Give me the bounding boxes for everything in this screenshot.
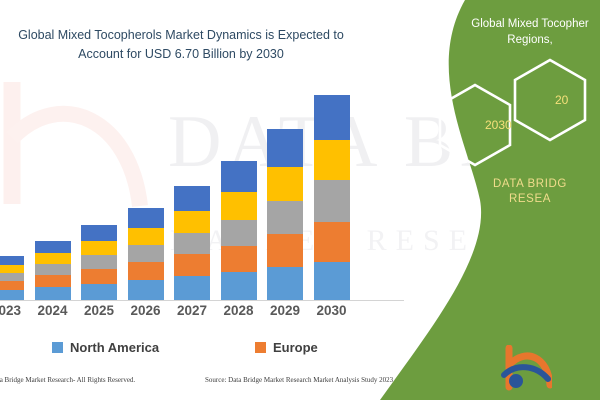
bar-2026[interactable] xyxy=(128,208,164,300)
bar-segment-2028-North America xyxy=(221,272,257,300)
bar-segment-2025-Europe xyxy=(81,269,117,284)
bar-segment-2027-Europe xyxy=(174,254,210,276)
bar-segment-2029-series-3 xyxy=(267,201,303,234)
data-bridge-logo-icon xyxy=(500,345,552,393)
infographic-canvas: DATA BRI MARKET RESEARCH Global Mixed To… xyxy=(0,0,600,400)
bar-segment-2024-series-4 xyxy=(35,253,71,264)
hexagon-2031-icon xyxy=(515,60,585,140)
legend-swatch-icon xyxy=(255,342,266,353)
bar-segment-2028-series-4 xyxy=(221,192,257,220)
bar-segment-2026-series-4 xyxy=(128,228,164,245)
panel-title-line1: Global Mixed Tocopher xyxy=(410,16,600,32)
x-tick-2027: 2027 xyxy=(169,303,215,318)
bar-segment-2027-series-4 xyxy=(174,211,210,233)
brand-line-1: DATA BRIDG xyxy=(420,177,600,192)
x-tick-2026: 2026 xyxy=(123,303,169,318)
bar-2027[interactable] xyxy=(174,186,210,300)
x-tick-2030: 2030 xyxy=(309,303,355,318)
x-tick-2024: 2024 xyxy=(30,303,76,318)
bar-segment-2030-series-5 xyxy=(314,95,350,140)
hexagon-label-2031: 20 xyxy=(555,93,568,107)
bar-2029[interactable] xyxy=(267,129,303,300)
brand-name: DATA BRIDG RESEA xyxy=(420,177,600,207)
bar-segment-2030-series-4 xyxy=(314,140,350,180)
bar-segment-2025-North America xyxy=(81,284,117,300)
legend-swatch-icon xyxy=(52,342,63,353)
bar-segment-2023-Europe xyxy=(0,281,24,290)
bar-segment-2023-series-4 xyxy=(0,265,24,273)
footer-source: Source: Data Bridge Market Research Mark… xyxy=(205,376,393,384)
bar-segment-2030-series-3 xyxy=(314,180,350,222)
bar-2024[interactable] xyxy=(35,241,71,300)
bar-segment-2030-Europe xyxy=(314,222,350,262)
footer: ected ® Data Bridge Market Research- All… xyxy=(0,376,470,392)
bar-segment-2028-Europe xyxy=(221,246,257,272)
bar-segment-2024-series-5 xyxy=(35,241,71,253)
legend-item-europe[interactable]: Europe xyxy=(255,340,318,355)
bar-segment-2026-series-5 xyxy=(128,208,164,228)
bar-segment-2025-series-5 xyxy=(81,225,117,241)
bar-segment-2027-series-5 xyxy=(174,186,210,211)
hexagon-label-2030: 2030 xyxy=(485,118,512,132)
x-tick-2028: 2028 xyxy=(216,303,262,318)
panel-title: Global Mixed Tocopher Regions, xyxy=(410,16,600,48)
x-tick-2025: 2025 xyxy=(76,303,122,318)
x-tick-2023: 2023 xyxy=(0,303,29,318)
bar-segment-2024-North America xyxy=(35,287,71,300)
bar-segment-2028-series-3 xyxy=(221,220,257,246)
bar-segment-2029-series-5 xyxy=(267,129,303,167)
bar-segment-2023-North America xyxy=(0,290,24,300)
bar-segment-2025-series-3 xyxy=(81,255,117,269)
bar-2030[interactable] xyxy=(314,95,350,300)
bar-segment-2023-series-3 xyxy=(0,273,24,281)
stacked-bar-chart: 20232024202520262027202820292030 xyxy=(0,88,420,310)
bar-segment-2029-Europe xyxy=(267,234,303,267)
bar-segment-2027-series-3 xyxy=(174,233,210,254)
x-axis-line xyxy=(0,300,404,301)
bar-segment-2025-series-4 xyxy=(81,241,117,255)
bar-segment-2024-Europe xyxy=(35,275,71,287)
legend-label: North America xyxy=(70,340,159,355)
x-tick-2029: 2029 xyxy=(262,303,308,318)
bar-segment-2027-North America xyxy=(174,276,210,300)
bar-segment-2026-North America xyxy=(128,280,164,300)
panel-title-line2: Regions, xyxy=(410,32,600,48)
bar-segment-2026-Europe xyxy=(128,262,164,280)
legend-label: Europe xyxy=(273,340,318,355)
x-axis-tick-labels: 20232024202520262027202820292030 xyxy=(0,303,420,329)
bar-2023[interactable] xyxy=(0,256,24,300)
bar-segment-2023-series-5 xyxy=(0,256,24,265)
legend-item-north-america[interactable]: North America xyxy=(52,340,159,355)
footer-copyright: ected ® Data Bridge Market Research- All… xyxy=(0,376,135,384)
bar-2025[interactable] xyxy=(81,225,117,300)
bar-segment-2029-North America xyxy=(267,267,303,300)
chart-plot-area xyxy=(0,88,420,300)
chart-legend: North AmericaEurope xyxy=(0,340,430,362)
bar-segment-2024-series-3 xyxy=(35,264,71,275)
bar-segment-2029-series-4 xyxy=(267,167,303,201)
brand-line-2: RESEA xyxy=(420,192,600,207)
bar-segment-2030-North America xyxy=(314,262,350,300)
bar-2028[interactable] xyxy=(221,161,257,300)
page-title: Global Mixed Tocopherols Market Dynamics… xyxy=(6,26,356,64)
hexagon-2030-icon xyxy=(440,85,510,165)
bar-segment-2028-series-5 xyxy=(221,161,257,192)
bar-segment-2026-series-3 xyxy=(128,245,164,262)
